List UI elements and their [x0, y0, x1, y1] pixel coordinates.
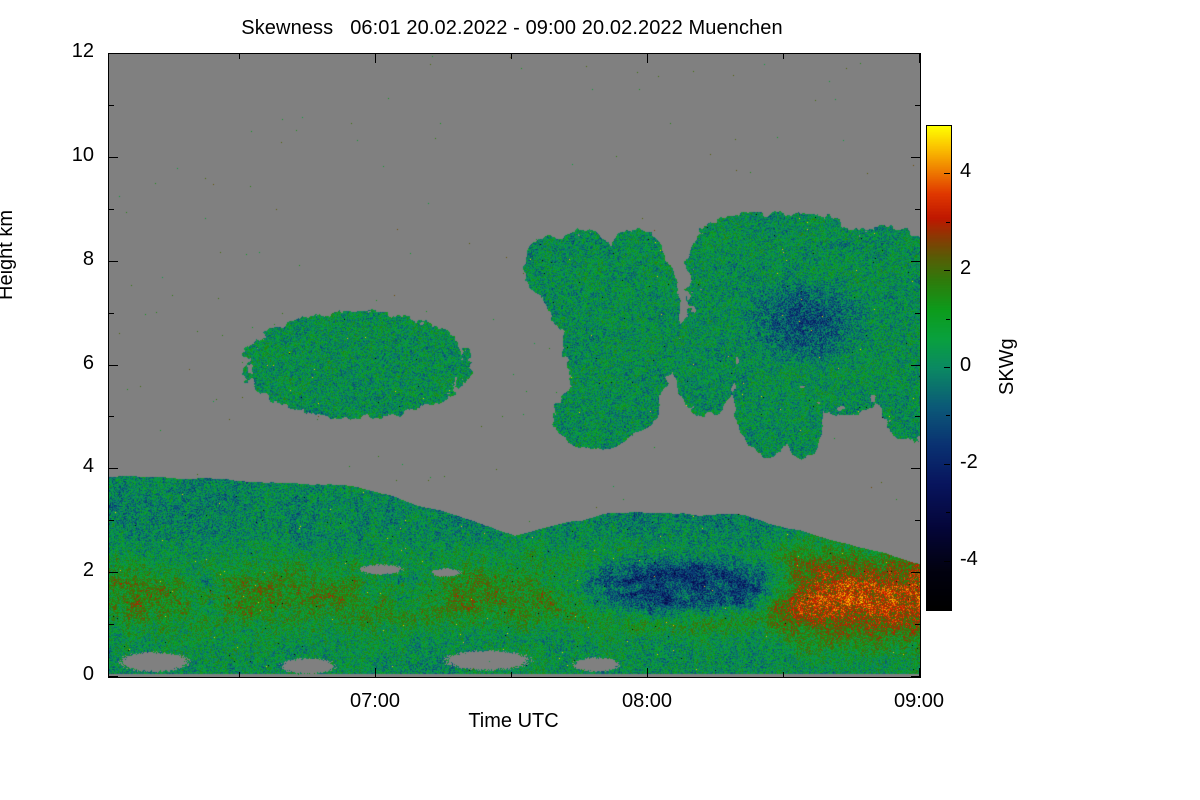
y-tick-9 — [109, 209, 114, 210]
y-tick-label-2: 2 — [34, 559, 94, 582]
x-tick-top-450 — [511, 54, 512, 59]
y-tick-label-10: 10 — [34, 144, 94, 167]
colorbar-title: SKWg — [996, 338, 1019, 395]
y-tick-12 — [109, 53, 118, 54]
x-tick-top-480 — [647, 54, 648, 63]
colorbar-minor-tick--1 — [946, 415, 950, 416]
page-title: Skewness 06:01 20.02.2022 - 09:00 20.02.… — [0, 17, 1024, 40]
colorbar-tick-4 — [944, 173, 950, 174]
y-tick-right-9 — [915, 209, 920, 210]
y-tick-2 — [109, 572, 118, 573]
y-tick-right-8 — [911, 261, 920, 262]
colorbar-tick--4 — [944, 561, 950, 562]
x-tick-480 — [647, 668, 648, 677]
heatmap-plot-area — [108, 53, 921, 678]
x-tick-390 — [239, 672, 240, 677]
x-tick-450 — [511, 672, 512, 677]
y-tick-right-7 — [915, 313, 920, 314]
y-tick-1 — [109, 624, 114, 625]
y-tick-label-12: 12 — [34, 40, 94, 63]
y-tick-7 — [109, 313, 114, 314]
colorbar-label-4: 4 — [960, 160, 971, 183]
y-tick-label-8: 8 — [34, 248, 94, 271]
x-tick-top-420 — [375, 54, 376, 63]
colorbar-label-2: 2 — [960, 257, 971, 280]
x-tick-540 — [919, 668, 920, 677]
colorbar-minor-tick-1 — [946, 319, 950, 320]
colorbar-tick-2 — [944, 270, 950, 271]
y-tick-label-4: 4 — [34, 455, 94, 478]
y-tick-0 — [109, 676, 118, 677]
colorbar — [926, 125, 952, 611]
y-tick-right-5 — [915, 416, 920, 417]
y-tick-4 — [109, 468, 118, 469]
y-tick-8 — [109, 261, 118, 262]
figure-canvas: Skewness 06:01 20.02.2022 - 09:00 20.02.… — [0, 0, 1200, 800]
y-tick-label-6: 6 — [34, 352, 94, 375]
x-axis-title: Time UTC — [108, 710, 919, 733]
colorbar-minor-tick--3 — [946, 512, 950, 513]
colorbar-tick--2 — [944, 464, 950, 465]
y-tick-label-0: 0 — [34, 663, 94, 686]
y-tick-right-11 — [915, 105, 920, 106]
y-axis-title: Height km — [0, 210, 18, 300]
colorbar-tick-0 — [944, 367, 950, 368]
y-tick-right-6 — [911, 365, 920, 366]
y-tick-right-10 — [911, 157, 920, 158]
y-tick-10 — [109, 157, 118, 158]
y-tick-right-4 — [911, 468, 920, 469]
colorbar-gradient — [927, 126, 951, 610]
x-tick-510 — [783, 672, 784, 677]
x-tick-top-510 — [783, 54, 784, 59]
x-tick-top-390 — [239, 54, 240, 59]
colorbar-label--2: -2 — [960, 451, 978, 474]
x-tick-top-540 — [919, 54, 920, 63]
x-tick-420 — [375, 668, 376, 677]
y-tick-6 — [109, 365, 118, 366]
colorbar-label--4: -4 — [960, 548, 978, 571]
colorbar-minor-tick-3 — [946, 222, 950, 223]
heatmap-data-canvas — [109, 54, 920, 677]
y-tick-right-1 — [915, 624, 920, 625]
y-tick-3 — [109, 520, 114, 521]
y-tick-right-2 — [911, 572, 920, 573]
y-tick-right-3 — [915, 520, 920, 521]
y-tick-5 — [109, 416, 114, 417]
colorbar-label-0: 0 — [960, 354, 971, 377]
y-tick-11 — [109, 105, 114, 106]
